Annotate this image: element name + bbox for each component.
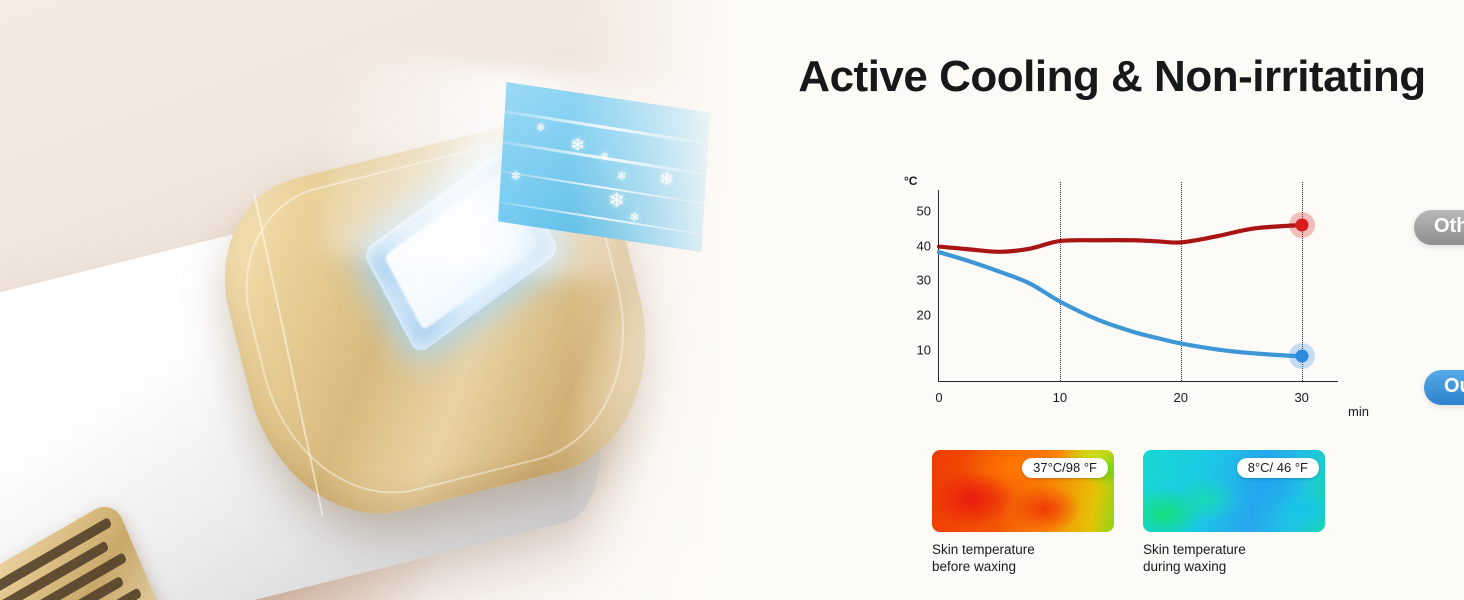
thermal-card-before-waxing: 37°C/98 °F Skin temperature before waxin…: [932, 450, 1114, 576]
x-tick-10: 10: [1053, 390, 1067, 405]
thermal-caption-during: Skin temperature during waxing: [1143, 541, 1325, 576]
info-panel: Active Cooling & Non-irritating °C 50 40…: [760, 0, 1464, 600]
others-endpoint-marker: [1295, 218, 1308, 231]
legend-badge-others: Others: [1414, 210, 1464, 245]
temperature-badge-before: 37°C/98 °F: [1022, 458, 1108, 478]
temperature-chart: °C 50 40 30 20 10 0 10 20 30: [900, 168, 1460, 438]
page-title: Active Cooling & Non-irritating: [760, 52, 1464, 101]
snowflake-icon: ❄: [659, 170, 674, 188]
snowflake-icon: ❄: [536, 123, 545, 134]
chart-plot-area: 50 40 30 20 10 0 10 20 30: [938, 190, 1338, 382]
legend-badge-our: Our: [1424, 370, 1464, 405]
thermal-card-during-waxing: 8°C/ 46 °F Skin temperature during waxin…: [1143, 450, 1325, 576]
thermal-caption-before: Skin temperature before waxing: [932, 541, 1114, 576]
thermal-image-cold: 8°C/ 46 °F: [1143, 450, 1325, 532]
thermal-comparison: 37°C/98 °F Skin temperature before waxin…: [932, 450, 1352, 590]
y-tick-50: 50: [917, 204, 931, 219]
x-tick-0: 0: [935, 390, 942, 405]
x-axis-unit-label: min: [1348, 404, 1369, 419]
series-line-our: [939, 252, 1303, 356]
snowflake-icon: ❄: [617, 170, 627, 182]
x-tick-30: 30: [1294, 390, 1308, 405]
snowflake-icon: ❄: [511, 170, 521, 182]
series-line-others: [939, 225, 1303, 252]
our-endpoint-marker: [1295, 349, 1308, 362]
chart-lines: [939, 182, 1339, 382]
snowflake-icon: ❄: [608, 191, 625, 211]
y-tick-20: 20: [917, 308, 931, 323]
product-image-panel: ❄ ❄ ❄ ❄ ❄ ❄ ❄ ❄: [0, 0, 760, 600]
y-tick-30: 30: [917, 273, 931, 288]
thermal-image-hot: 37°C/98 °F: [932, 450, 1114, 532]
snowflake-icon: ❄: [629, 211, 639, 223]
y-axis-unit-label: °C: [904, 174, 917, 188]
product-feature-banner: ❄ ❄ ❄ ❄ ❄ ❄ ❄ ❄ Active Cooling & Non-irr…: [0, 0, 1464, 600]
snowflake-icon: ❄: [600, 152, 609, 163]
x-tick-20: 20: [1174, 390, 1188, 405]
y-tick-10: 10: [917, 342, 931, 357]
temperature-badge-during: 8°C/ 46 °F: [1237, 458, 1319, 478]
snowflake-icon: ❄: [570, 136, 585, 154]
gold-vent-grille: [0, 499, 165, 600]
y-tick-40: 40: [917, 238, 931, 253]
